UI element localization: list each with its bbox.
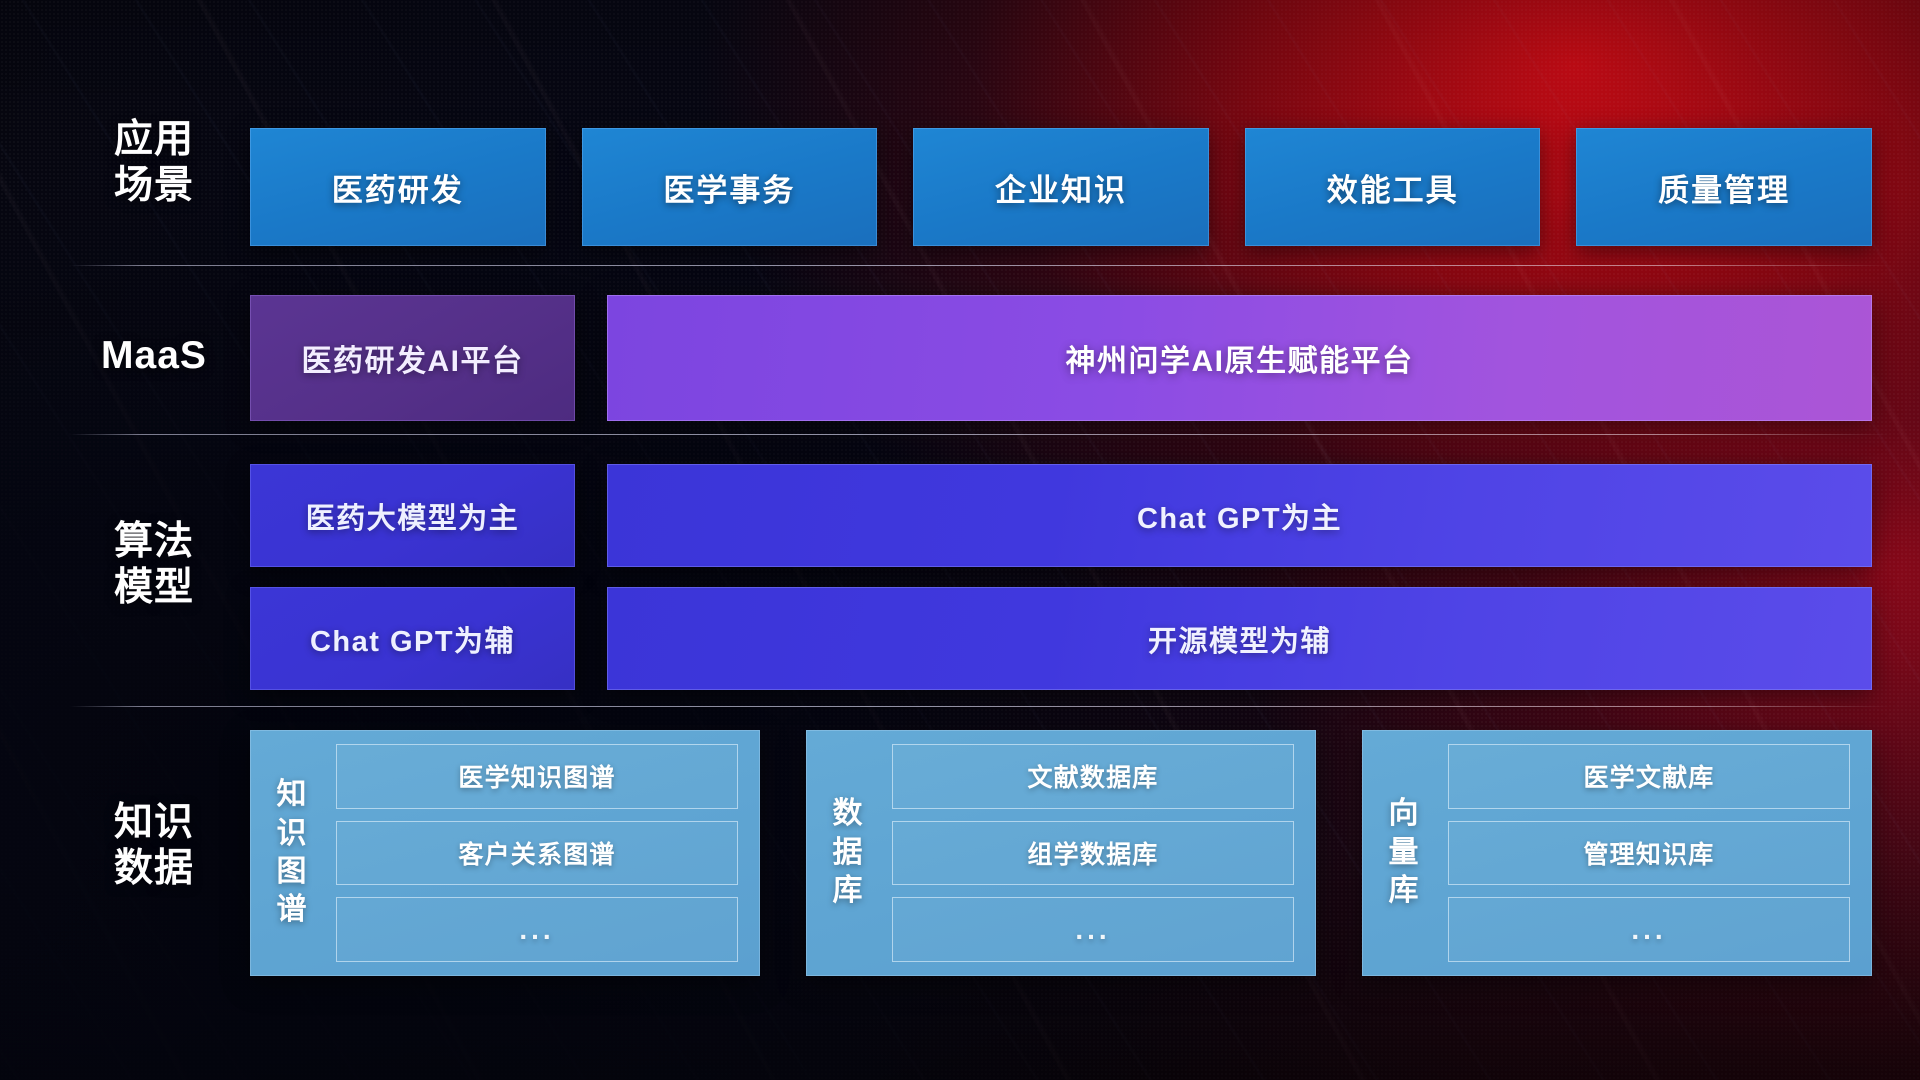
- app-box-medical-affairs[interactable]: 医学事务: [582, 128, 878, 246]
- app-box-label: 质量管理: [1658, 165, 1790, 210]
- knowledge-item[interactable]: 文献数据库: [892, 744, 1294, 809]
- app-box-label: 效能工具: [1327, 165, 1459, 210]
- app-box-label: 医药研发: [332, 165, 464, 210]
- maas-box-drug-rnd-ai-platform[interactable]: 医药研发AI平台: [250, 295, 575, 421]
- knowledge-data-row: 知 识 图 谱 医学知识图谱 客户关系图谱 ... 数 据 库 文献数据库 组学…: [250, 730, 1872, 976]
- knowledge-card-title: 向 量 库: [1378, 795, 1430, 910]
- knowledge-item[interactable]: 客户关系图谱: [336, 821, 738, 886]
- app-box-enterprise-knowledge[interactable]: 企业知识: [913, 128, 1209, 246]
- knowledge-item-more[interactable]: ...: [892, 897, 1294, 962]
- app-box-label: 医学事务: [663, 165, 795, 210]
- maas-box-label: 神州问学AI原生赋能平台: [1066, 336, 1414, 380]
- divider-algo-knowledge: [70, 706, 1890, 707]
- app-box-quality-management[interactable]: 质量管理: [1576, 128, 1872, 246]
- divider-apps-maas: [70, 265, 1890, 266]
- app-box-drug-rnd[interactable]: 医药研发: [250, 128, 546, 246]
- maas-row: 医药研发AI平台 神州问学AI原生赋能平台: [250, 295, 1872, 421]
- knowledge-item-more[interactable]: ...: [1448, 897, 1850, 962]
- knowledge-card-database[interactable]: 数 据 库 文献数据库 组学数据库 ...: [806, 730, 1316, 976]
- application-scenario-row: 医药研发 医学事务 企业知识 效能工具 质量管理: [250, 128, 1872, 246]
- architecture-diagram: 应用 场景 医药研发 医学事务 企业知识 效能工具 质量管理 MaaS 医药研发…: [0, 0, 1920, 1080]
- algo-box-opensource-secondary[interactable]: 开源模型为辅: [607, 587, 1872, 690]
- divider-maas-algo: [70, 434, 1890, 435]
- maas-box-shenzhou-wenxue-platform[interactable]: 神州问学AI原生赋能平台: [607, 295, 1872, 421]
- knowledge-card-vector-store[interactable]: 向 量 库 医学文献库 管理知识库 ...: [1362, 730, 1872, 976]
- app-box-efficiency-tools[interactable]: 效能工具: [1245, 128, 1541, 246]
- algo-box-label: Chat GPT为主: [1137, 495, 1342, 537]
- layer-label-algorithm-model: 算法 模型: [70, 519, 238, 611]
- knowledge-item[interactable]: 医学文献库: [1448, 744, 1850, 809]
- knowledge-item[interactable]: 管理知识库: [1448, 821, 1850, 886]
- algo-box-chatgpt-primary[interactable]: Chat GPT为主: [607, 464, 1872, 567]
- algo-box-label: 开源模型为辅: [1148, 618, 1331, 660]
- knowledge-item[interactable]: 组学数据库: [892, 821, 1294, 886]
- knowledge-item[interactable]: 医学知识图谱: [336, 744, 738, 809]
- knowledge-card-item-list: 文献数据库 组学数据库 ...: [892, 744, 1294, 962]
- knowledge-card-item-list: 医学知识图谱 客户关系图谱 ...: [336, 744, 738, 962]
- algo-box-label: Chat GPT为辅: [310, 618, 515, 660]
- knowledge-card-knowledge-graph[interactable]: 知 识 图 谱 医学知识图谱 客户关系图谱 ...: [250, 730, 760, 976]
- knowledge-card-title: 数 据 库: [822, 795, 874, 910]
- layer-label-maas: MaaS: [70, 333, 238, 379]
- algorithm-model-row: 医药大模型为主 Chat GPT为主 Chat GPT为辅 开源模型为辅: [250, 464, 1872, 690]
- algo-box-label: 医药大模型为主: [306, 495, 520, 537]
- knowledge-item-more[interactable]: ...: [336, 897, 738, 962]
- algo-box-chatgpt-secondary[interactable]: Chat GPT为辅: [250, 587, 575, 690]
- app-box-label: 企业知识: [995, 165, 1127, 210]
- maas-box-label: 医药研发AI平台: [302, 336, 524, 380]
- algorithm-model-line-secondary: Chat GPT为辅 开源模型为辅: [250, 587, 1872, 690]
- knowledge-card-title: 知 识 图 谱: [266, 776, 318, 930]
- algo-box-pharma-llm-primary[interactable]: 医药大模型为主: [250, 464, 575, 567]
- layer-label-knowledge-data: 知识 数据: [70, 800, 238, 892]
- knowledge-card-item-list: 医学文献库 管理知识库 ...: [1448, 744, 1850, 962]
- algorithm-model-line-primary: 医药大模型为主 Chat GPT为主: [250, 464, 1872, 567]
- layer-label-application-scenario: 应用 场景: [70, 117, 238, 209]
